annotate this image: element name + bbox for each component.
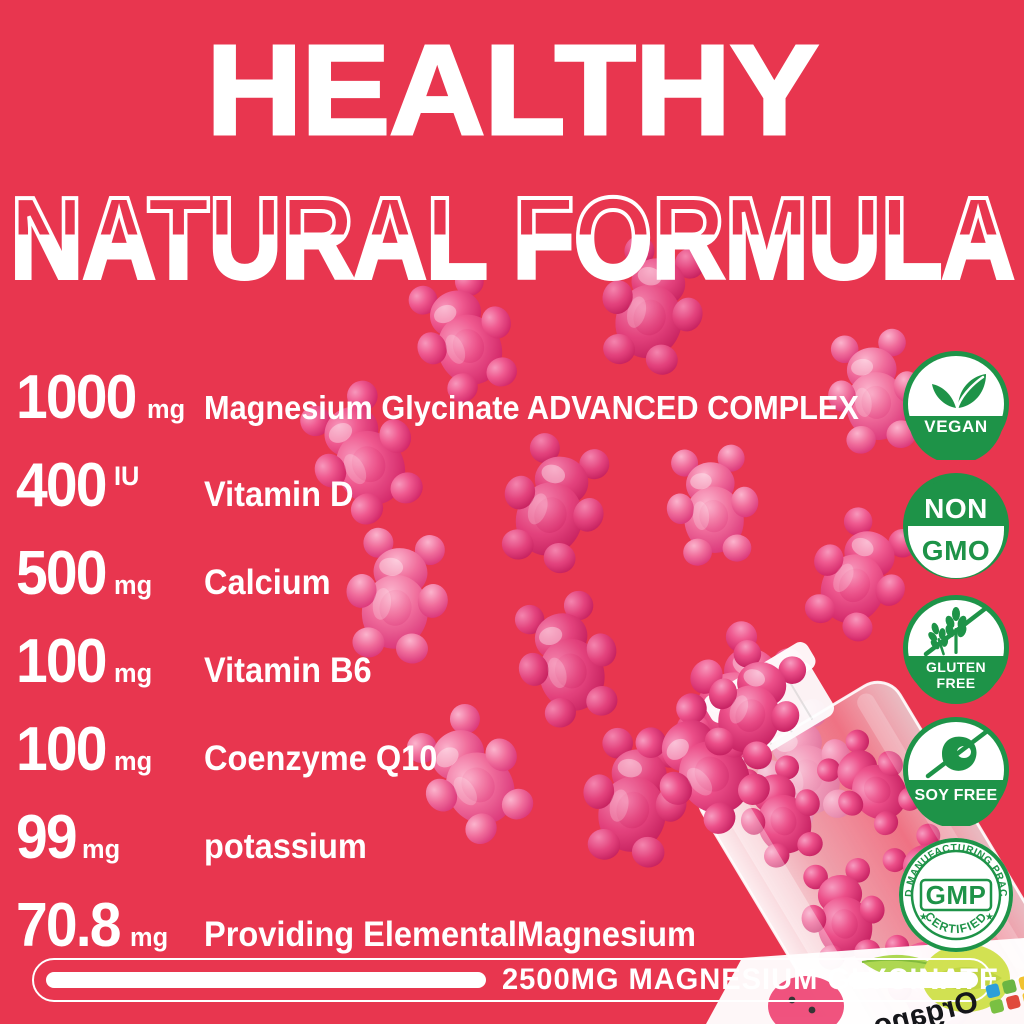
amount-unit: mg xyxy=(147,396,185,423)
amount-number: 1000 xyxy=(16,369,136,426)
brand-dots xyxy=(985,975,1024,1015)
amount-unit: mg xyxy=(114,748,152,775)
ingredient-name: Magnesium Glycinate ADVANCED COMPLEX xyxy=(204,391,859,426)
headline-line-2: NATURAL FORMULA NATURAL FORMULA xyxy=(4,176,1020,300)
badge-label-line2: FREE xyxy=(937,675,976,691)
page-title: HEALTHY xyxy=(0,28,1024,153)
ingredient-amount: 99 mg xyxy=(16,809,204,866)
badge-soy-free: SOY FREE xyxy=(900,714,1012,826)
badge-label-top: NON xyxy=(924,493,988,524)
amount-number: 400 xyxy=(16,457,106,514)
badge-gluten-free: GLUTEN FREE xyxy=(900,592,1012,704)
ingredient-amount: 500 mg xyxy=(16,545,204,602)
brand-name: Organo xyxy=(870,985,981,1024)
certification-badges: VEGAN NON GMO xyxy=(894,348,1018,964)
amount-unit: mg xyxy=(114,660,152,687)
ingredient-amount: 70.8 mg xyxy=(16,897,204,954)
badge-label: VEGAN xyxy=(924,417,987,436)
ingredient-amount: 400 IU xyxy=(16,457,204,514)
badge-label-bottom: GMO xyxy=(922,535,990,566)
badge-label: SOY FREE xyxy=(914,787,997,804)
headline-line-1: HEALTHY xyxy=(0,28,1024,153)
ingredient-row: 400 IU Vitamin D xyxy=(16,426,816,514)
ingredient-name: Vitamin B6 xyxy=(204,653,372,690)
badge-vegan: VEGAN xyxy=(900,348,1012,460)
amount-number: 500 xyxy=(16,545,106,602)
amount-unit: IU xyxy=(114,463,139,490)
ingredient-row: 99 mg potassium xyxy=(16,778,816,866)
ingredient-row: 100 mg Coenzyme Q10 xyxy=(16,690,816,778)
amount-number: 100 xyxy=(16,721,106,778)
banner-bar-left xyxy=(46,972,486,988)
amount-number: 100 xyxy=(16,633,106,690)
gmp-center-text: GMP xyxy=(926,880,987,910)
badge-non-gmo: NON GMO xyxy=(900,470,1012,582)
badge-label-line1: GLUTEN xyxy=(926,659,986,675)
ingredient-row: 100 mg Vitamin B6 xyxy=(16,602,816,690)
amount-unit: mg xyxy=(114,572,152,599)
headline-fill-text: NATURAL FORMULA xyxy=(10,176,1014,300)
amount-number: 99 xyxy=(16,809,76,866)
ingredient-name: Coenzyme Q10 xyxy=(204,741,437,778)
ingredient-amount: 1000 mg xyxy=(16,369,204,426)
amount-unit: mg xyxy=(130,924,168,951)
ingredient-name: Vitamin D xyxy=(204,477,354,514)
ingredient-row: 500 mg Calcium xyxy=(16,514,816,602)
ingredient-amount: 100 mg xyxy=(16,721,204,778)
amount-number: 70.8 xyxy=(16,897,120,954)
ingredient-name: Calcium xyxy=(204,565,331,602)
ingredient-row: 70.8 mg Providing ElementalMagnesium xyxy=(16,866,816,954)
poster-canvas: HEALTHY NATURAL FORMULA NATURAL FORMULA … xyxy=(0,0,1024,1024)
ingredient-name: potassium xyxy=(204,829,367,866)
ingredient-row: 1000 mg Magnesium Glycinate ADVANCED COM… xyxy=(16,338,816,426)
amount-unit: mg xyxy=(82,836,120,863)
brand-label-artwork: Organo xyxy=(824,914,1024,1024)
ingredient-name: Providing ElementalMagnesium xyxy=(204,917,696,954)
ingredient-list: 1000 mg Magnesium Glycinate ADVANCED COM… xyxy=(16,338,816,954)
ingredient-amount: 100 mg xyxy=(16,633,204,690)
